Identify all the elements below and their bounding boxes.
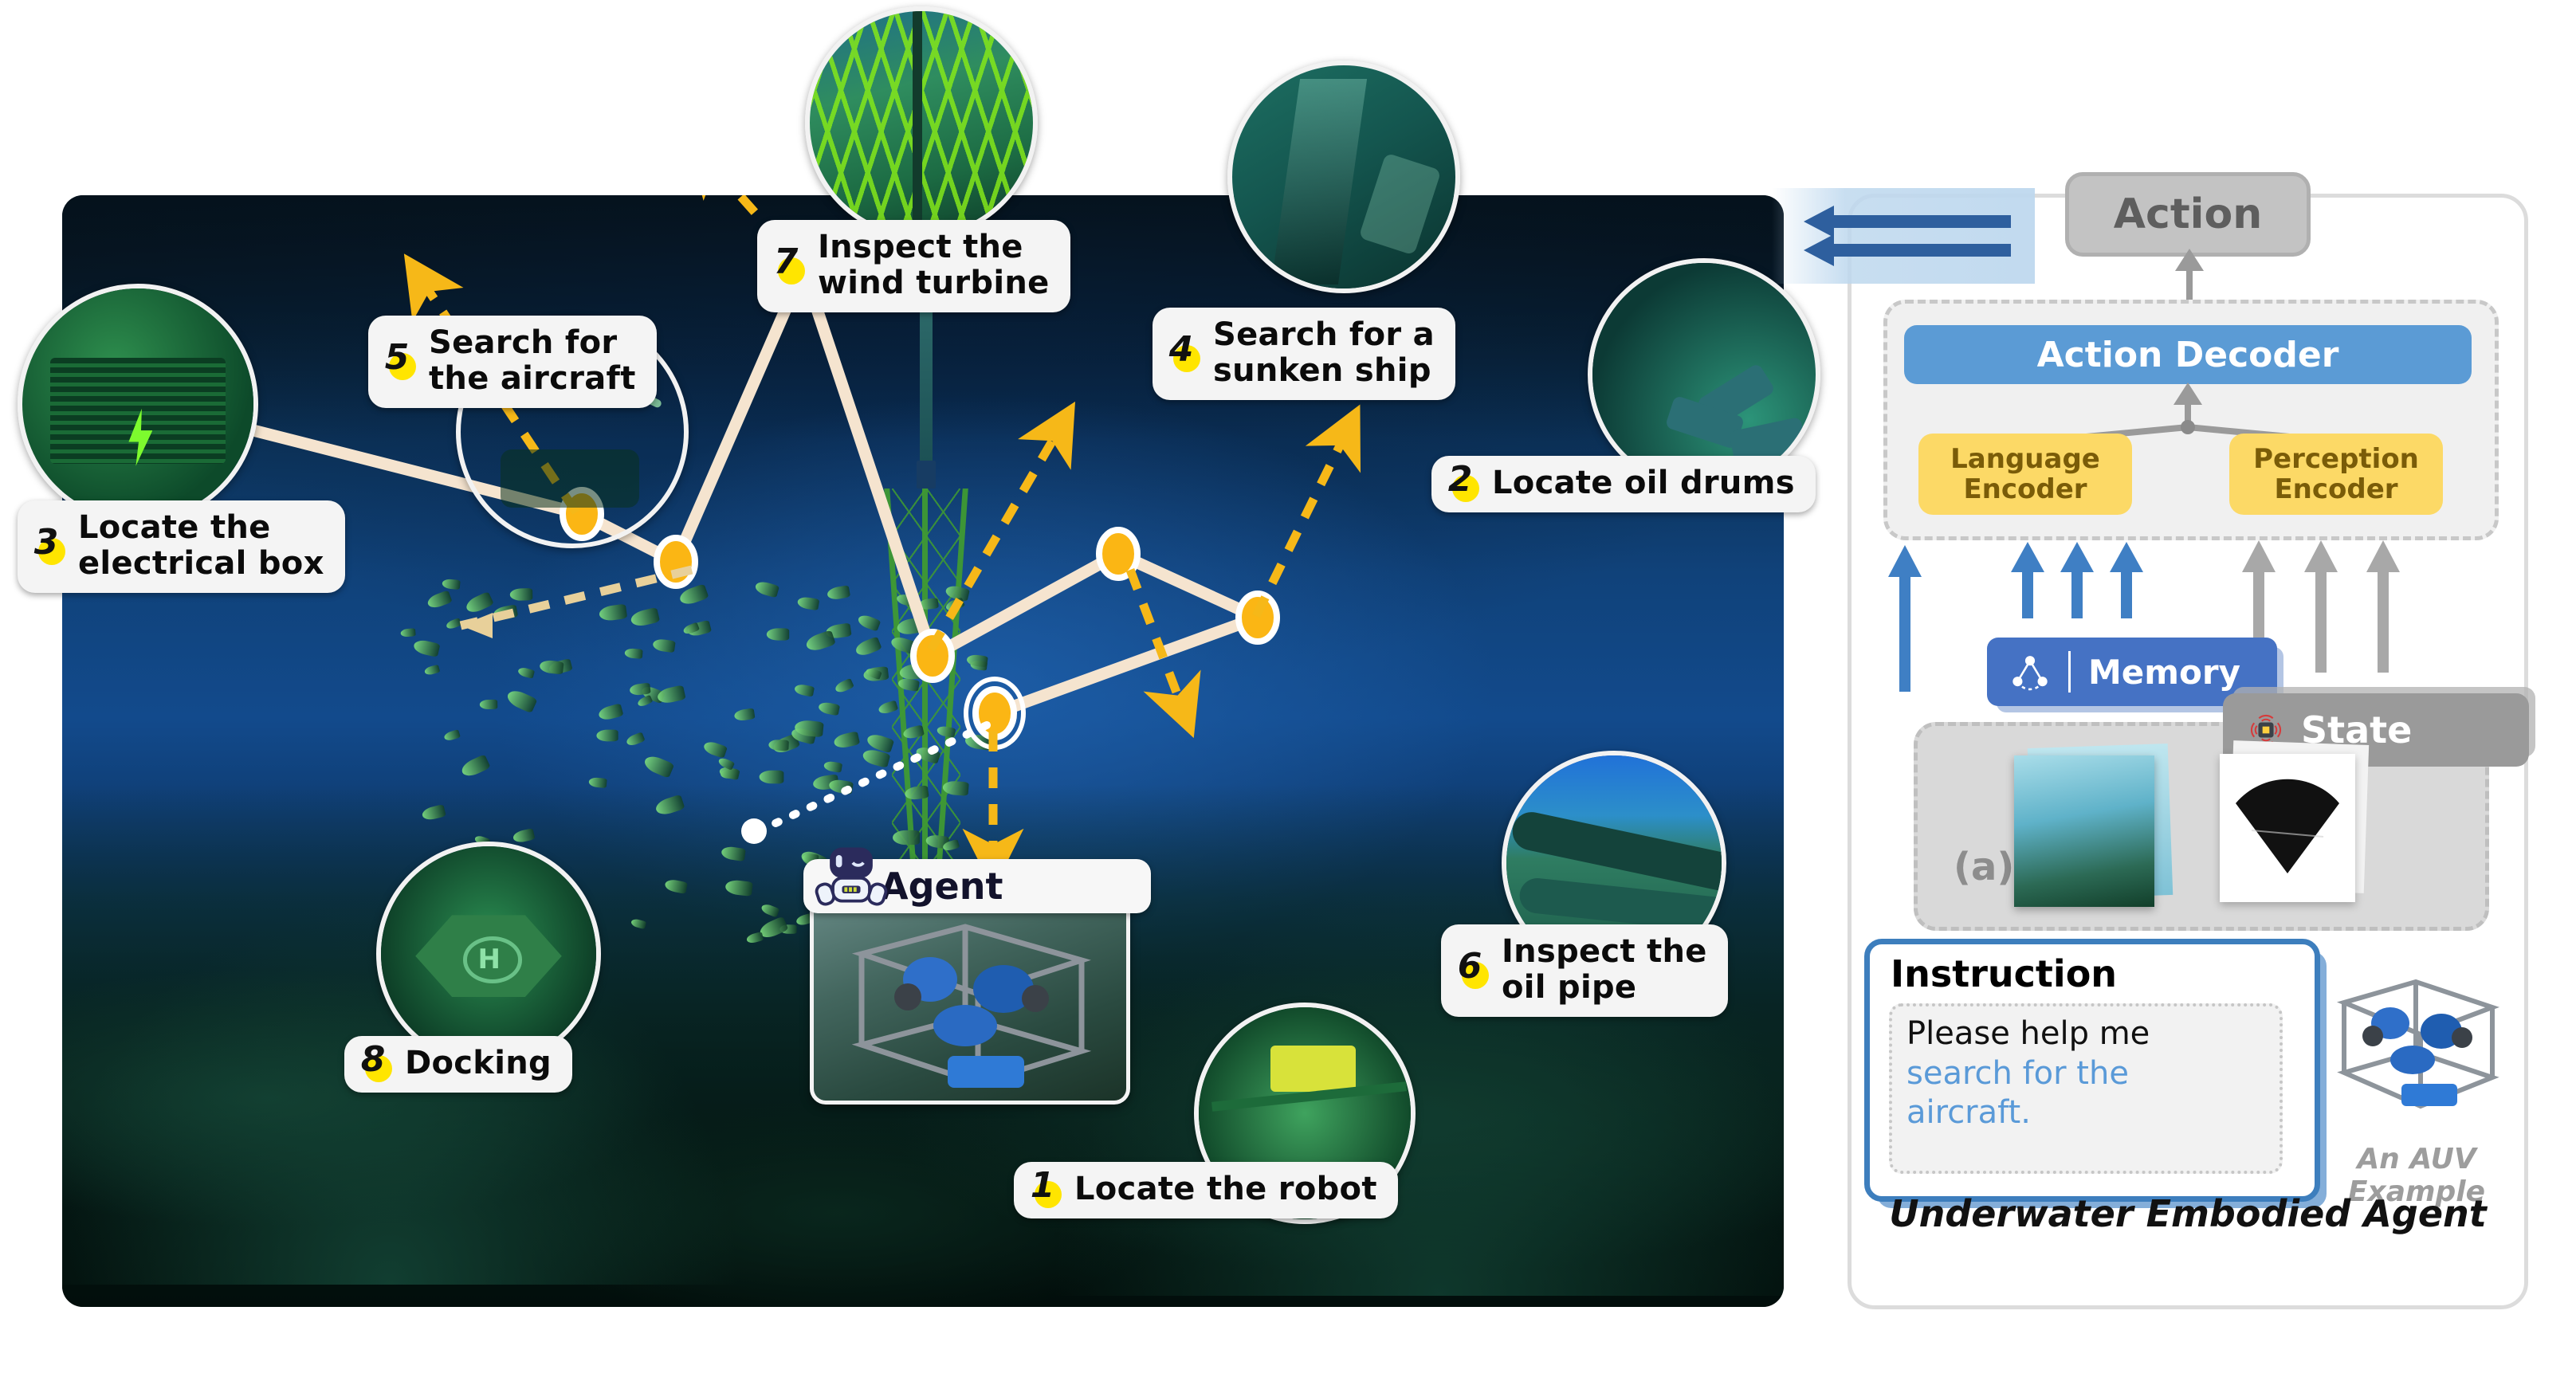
- perception-encoder-label: Perception Encoder: [2253, 444, 2419, 504]
- action-decoder-box[interactable]: Action Decoder: [1904, 325, 2472, 384]
- instruction-line-2: search for the aircraft.: [1906, 1054, 2265, 1133]
- instruction-box[interactable]: Instruction Please help me search for th…: [1864, 939, 2320, 1202]
- action-decoder-label: Action Decoder: [2037, 335, 2339, 375]
- task-label-4[interactable]: 4 Search for a sunken ship: [1153, 308, 1455, 400]
- memory-share-icon: [2009, 651, 2051, 693]
- task-badge-6: 6: [1457, 954, 1489, 986]
- embodied-agent-panel: Action Action Decoder Language Encoder P…: [1848, 194, 2528, 1309]
- task-label-text-4: Search for a sunken ship: [1213, 317, 1435, 389]
- task-label-text-8: Docking: [405, 1046, 552, 1081]
- task-label-text-2: Locate oil drums: [1492, 465, 1795, 501]
- instruction-line-1: Please help me: [1906, 1014, 2265, 1054]
- thumb-electrical-box[interactable]: [18, 284, 258, 524]
- obs-a-label: (a): [1954, 845, 2014, 889]
- task-badge-4: 4: [1168, 337, 1200, 369]
- auv-example-illustration: [2314, 947, 2513, 1130]
- encoder-merge-arrows: [2011, 378, 2370, 441]
- task-label-8[interactable]: 8 Docking: [344, 1036, 572, 1093]
- agent-dotted-link: [741, 725, 987, 844]
- task-label-text-1: Locate the robot: [1074, 1171, 1377, 1207]
- task-label-5[interactable]: 5 Search for the aircraft: [368, 316, 657, 408]
- mission-trajectory: [62, 195, 1784, 1307]
- task-label-text-6: Inspect the oil pipe: [1502, 934, 1707, 1006]
- memory-label: Memory: [2088, 653, 2240, 692]
- task-badge-7: 7: [773, 249, 805, 281]
- task-label-7[interactable]: 7 Inspect the wind turbine: [757, 220, 1070, 312]
- obs-image-sonar[interactable]: [2220, 754, 2355, 902]
- thumb-wind-turbine[interactable]: [805, 6, 1038, 239]
- feedback-arrows: [1772, 188, 2035, 284]
- robot-icon: [813, 837, 889, 913]
- action-label: Action: [2114, 190, 2263, 238]
- instruction-title: Instruction: [1891, 952, 2117, 995]
- task-badge-5: 5: [384, 345, 416, 377]
- task-label-1[interactable]: 1 Locate the robot: [1014, 1162, 1398, 1218]
- task-badge-8: 8: [360, 1047, 392, 1079]
- language-encoder-box[interactable]: Language Encoder: [1918, 434, 2132, 515]
- underwater-scene: [62, 195, 1784, 1307]
- agent-label-pill[interactable]: Agent: [803, 859, 1151, 913]
- task-label-text-5: Search for the aircraft: [429, 325, 636, 397]
- task-badge-2: 2: [1447, 467, 1479, 499]
- obs-image-camera[interactable]: [2014, 755, 2154, 907]
- task-label-text-7: Inspect the wind turbine: [818, 230, 1050, 301]
- panel-caption: Underwater Embodied Agent: [1851, 1192, 2524, 1235]
- thumb-sunken-ship[interactable]: [1227, 61, 1460, 293]
- perception-encoder-box[interactable]: Perception Encoder: [2229, 434, 2443, 515]
- thumb-docking-platform[interactable]: H: [376, 842, 601, 1066]
- callout-arrow-docking: [461, 570, 692, 638]
- task-label-6[interactable]: 6 Inspect the oil pipe: [1441, 924, 1728, 1017]
- agent-label-text: Agent: [880, 865, 1003, 908]
- task-badge-3: 3: [33, 530, 65, 562]
- task-badge-1: 1: [1030, 1173, 1062, 1205]
- task-label-3[interactable]: 3 Locate the electrical box: [18, 500, 345, 593]
- task-label-text-3: Locate the electrical box: [78, 510, 324, 582]
- language-encoder-label: Language Encoder: [1950, 444, 2100, 504]
- action-output-box[interactable]: Action: [2065, 172, 2311, 257]
- instruction-text-field[interactable]: Please help me search for the aircraft.: [1889, 1003, 2283, 1174]
- task-label-2[interactable]: 2 Locate oil drums: [1431, 456, 1816, 512]
